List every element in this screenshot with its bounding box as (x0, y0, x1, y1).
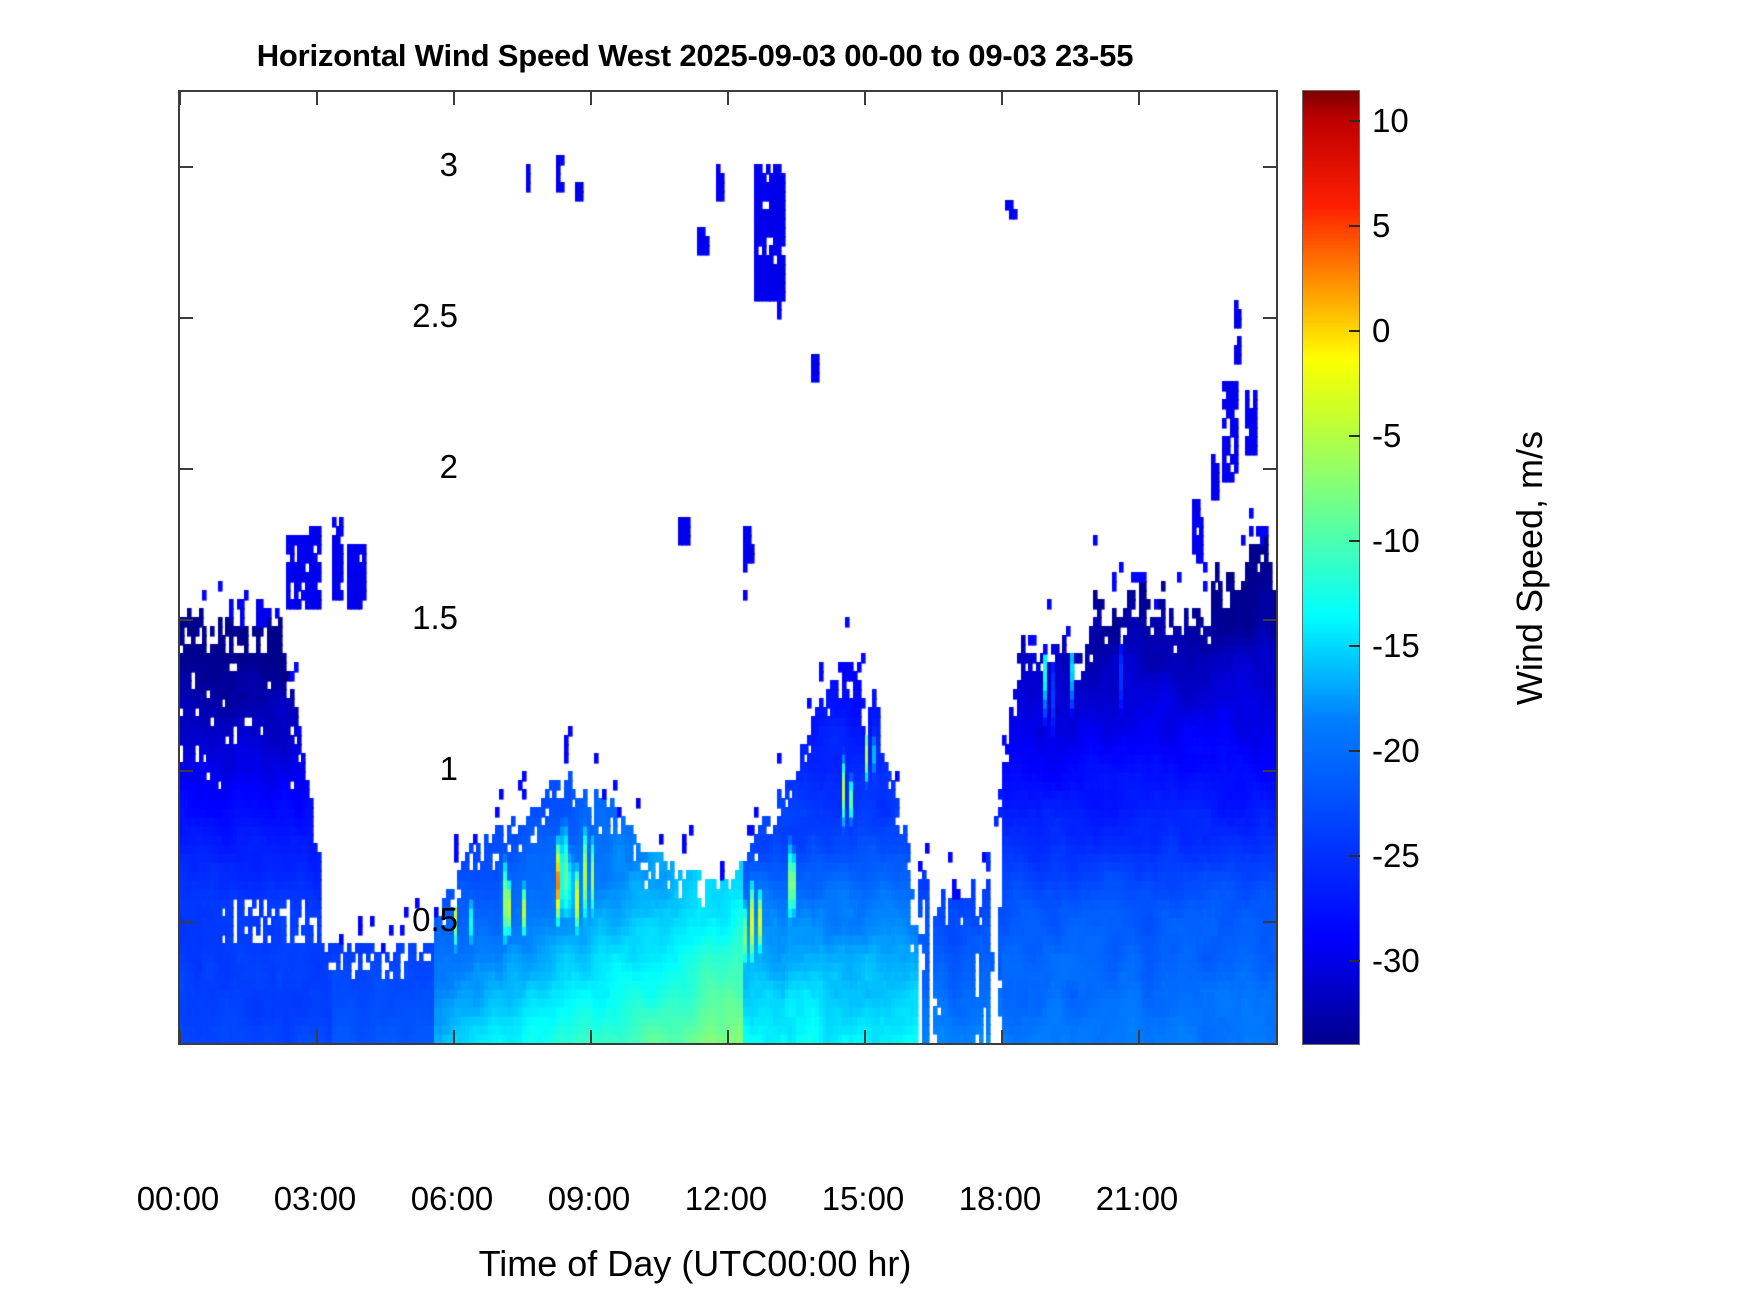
x-axis-tick (727, 92, 729, 105)
y-axis-tick-label: 2.5 (338, 297, 458, 335)
colorbar-tick (1349, 960, 1360, 962)
y-axis-tick-label: 1 (338, 750, 458, 788)
colorbar-gradient (1302, 90, 1360, 1045)
x-axis-tick (590, 92, 592, 105)
colorbar-tick-label: -15 (1372, 627, 1420, 665)
x-axis-title: Time of Day (UTC00:00 hr) (0, 1243, 1390, 1285)
x-axis-tick (1001, 1030, 1003, 1043)
y-axis-tick (180, 770, 193, 772)
colorbar-tick-label: 10 (1372, 102, 1409, 140)
x-axis-tick (453, 92, 455, 105)
x-axis-tick (316, 1030, 318, 1043)
x-axis-tick (179, 1030, 181, 1043)
x-axis-tick (179, 92, 181, 105)
y-axis-tick-label: 1.5 (338, 599, 458, 637)
colorbar-tick (1349, 855, 1360, 857)
y-axis-tick-label: 0.5 (338, 901, 458, 939)
x-axis-tick-label: 09:00 (548, 1180, 631, 1218)
x-axis-tick-label: 03:00 (274, 1180, 357, 1218)
x-axis-tick (727, 1030, 729, 1043)
y-axis-tick-label: 2 (338, 448, 458, 486)
y-axis-tick (1263, 468, 1276, 470)
colorbar-tick (1349, 225, 1360, 227)
colorbar-tick (1349, 750, 1360, 752)
x-axis-tick (316, 92, 318, 105)
x-axis-tick-label: 00:00 (137, 1180, 220, 1218)
y-axis-tick (1263, 770, 1276, 772)
x-axis-tick (1001, 92, 1003, 105)
x-axis-tick (864, 1030, 866, 1043)
colorbar: 1050-5-10-15-20-25-30 (1302, 90, 1360, 1045)
y-axis-tick (1263, 921, 1276, 923)
y-axis-tick (180, 619, 193, 621)
x-axis-tick (590, 1030, 592, 1043)
x-axis-tick (864, 92, 866, 105)
colorbar-tick-label: -25 (1372, 837, 1420, 875)
colorbar-tick (1349, 540, 1360, 542)
colorbar-tick-label: 0 (1372, 312, 1390, 350)
colorbar-tick-label: -10 (1372, 522, 1420, 560)
x-axis-tick (1138, 92, 1140, 105)
y-axis-tick (180, 166, 193, 168)
y-axis-tick (180, 468, 193, 470)
x-axis-tick-label: 15:00 (822, 1180, 905, 1218)
x-axis-tick (1138, 1030, 1140, 1043)
colorbar-tick (1349, 120, 1360, 122)
y-axis-tick (1263, 317, 1276, 319)
x-axis-tick-label: 12:00 (685, 1180, 768, 1218)
x-axis-tick (453, 1030, 455, 1043)
page-title: Horizontal Wind Speed West 2025-09-03 00… (0, 38, 1390, 74)
y-axis-tick (1263, 166, 1276, 168)
colorbar-tick-label: -5 (1372, 417, 1401, 455)
colorbar-tick-label: -20 (1372, 732, 1420, 770)
y-axis-tick (180, 317, 193, 319)
colorbar-tick (1349, 645, 1360, 647)
x-axis-tick-label: 21:00 (1096, 1180, 1179, 1218)
x-axis-tick-label: 18:00 (959, 1180, 1042, 1218)
colorbar-title: Wind Speed, m/s (1509, 431, 1551, 705)
y-axis-tick (1263, 619, 1276, 621)
colorbar-tick (1349, 330, 1360, 332)
colorbar-tick (1349, 435, 1360, 437)
y-axis-tick (180, 921, 193, 923)
wind-speed-timeheight-figure: Horizontal Wind Speed West 2025-09-03 00… (0, 0, 1750, 1313)
colorbar-tick-label: 5 (1372, 207, 1390, 245)
x-axis-tick-label: 06:00 (411, 1180, 494, 1218)
colorbar-tick-label: -30 (1372, 942, 1420, 980)
y-axis-tick-label: 3 (338, 146, 458, 184)
